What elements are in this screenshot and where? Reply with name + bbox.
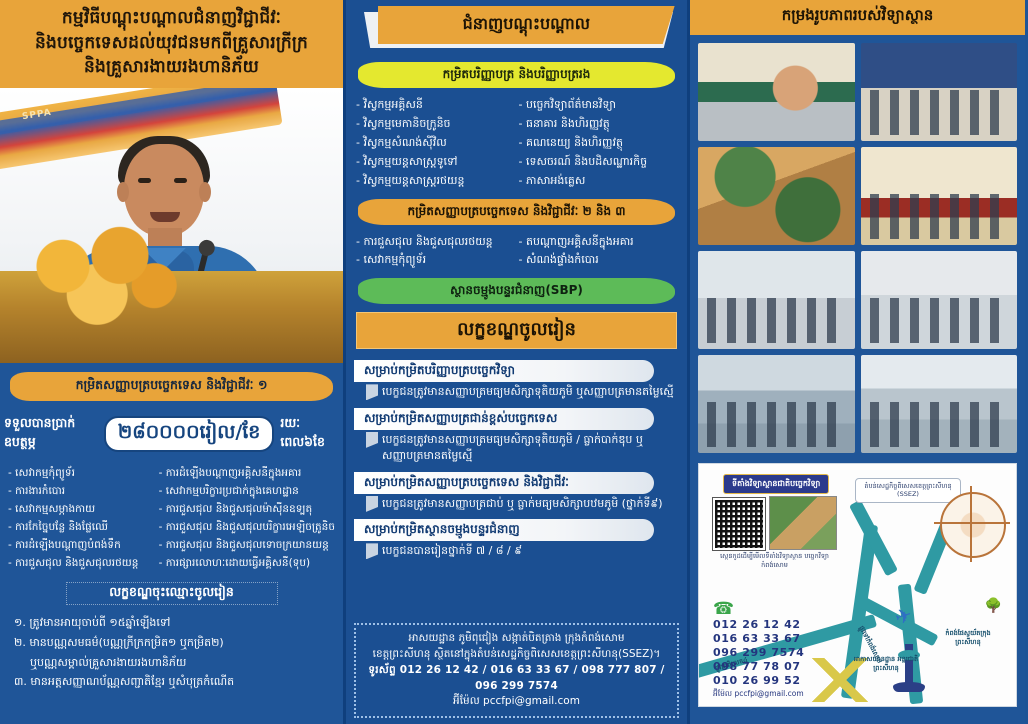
- photo-students-workshop: [698, 251, 855, 349]
- condition-block: សម្រាប់កម្រិតស្ថានចម្មូងបន្ទរជំនាញ បេក្ខ…: [354, 518, 679, 560]
- salary-prefix: ទទួលបានប្រាក់ឧបត្ថម្ភ: [4, 415, 98, 453]
- certificate-programs-list: - ការជួសជុល និងជួសជុលរថយន្ត - តបណ្តាញអគ្…: [346, 231, 687, 275]
- contact-phones[interactable]: ទូរស័ព្ទ 012 26 12 42 / 016 63 33 67 / 0…: [360, 663, 673, 695]
- condition-title: សម្រាប់កម្រិតសញ្ញាបត្រជាន់ខ្ពស់បច្ចេកទេស: [354, 408, 654, 430]
- list-item: - វិស្វកម្មយន្តសាស្ត្ររថយន្ត: [356, 172, 515, 191]
- admission-conditions-title: លក្ខខណ្ឌចូលរៀន: [356, 312, 677, 349]
- header-tab: ជំនាញបណ្តុះបណ្តាល: [378, 6, 675, 44]
- map-badge: ទីតាំងវិទ្យាស្ថានជាតិបច្ចេកវិទ្យា: [723, 474, 829, 494]
- phone-icon: ☎: [713, 601, 863, 618]
- requirements-list: ១. ត្រូវមានអាយុចាប់ពី ១៥ឆ្នាំឡើងទៅ ២. មា…: [0, 611, 343, 694]
- condition-title: សម្រាប់កម្រិតស្ថានចម្មូងបន្ទរជំនាញ: [354, 519, 654, 541]
- people-silhouettes: [870, 194, 1008, 239]
- photo-group-photo-hall: [861, 147, 1018, 245]
- list-item: - ធនាគារ និងហិរញ្ញវត្ថុ: [519, 115, 678, 134]
- poster-root: កម្មវិធីបណ្តុះបណ្តាលជំនាញវិជ្ជាជីវៈ និងប…: [0, 0, 1028, 724]
- list-item: - បច្ចេកវិទ្យាព័ត៌មានវិទ្យា: [519, 96, 678, 115]
- leaf-icon: 🌳: [985, 598, 1002, 614]
- list-item: - វិស្វកម្មយន្តសាស្ត្រទូទៅ: [356, 153, 515, 172]
- list-item: - ការជួសជុល និងជួសជុលម៉ាស៊ីនឧទ្បតុ: [159, 501, 335, 518]
- condition-body: បេក្ខជនត្រូវមានសញ្ញាបត្រជាប់ ឬ ធ្លាក់មធ្…: [370, 496, 679, 513]
- phone-number[interactable]: 096 299 7574: [713, 646, 863, 660]
- list-item: - វិស្វកម្មសំណង់ស៊ីវិល: [356, 134, 515, 153]
- level-1-banner: កម្រិតសញ្ញាបត្របច្ចេកទេស និងវិជ្ជាជីវៈ ១: [10, 372, 333, 401]
- bachelor-level-banner: កម្រិតបរិញ្ញាបត្រ និងបរិញ្ញាបត្ររង: [358, 62, 675, 88]
- people-silhouettes: [707, 402, 845, 447]
- hero-photo: SPPA: [0, 88, 343, 363]
- contact-email[interactable]: អ៊ីម៉ែល pccfpi@gmail.com: [360, 694, 673, 710]
- training-fields-header: ជំនាញបណ្តុះបណ្តាល: [364, 6, 673, 52]
- list-item: ៣. មានអត្តសញ្ញាណប័ណ្ណសញ្ជាតិខ្មែរ ឬសំបុត…: [14, 672, 329, 692]
- condition-title: សម្រាប់កម្រិតសញ្ញាបត្របច្ចេកទេស និងវិជ្ជ…: [354, 472, 654, 494]
- map-thumbnail-photo: [769, 496, 837, 550]
- salary-row: ទទួលបានប្រាក់ឧបត្ថម្ភ ២៨០០០០រៀល/ខែ រយៈពេ…: [4, 415, 339, 453]
- middle-column: ជំនាញបណ្តុះបណ្តាល កម្រិតបរិញ្ញាបត្រ និងប…: [343, 0, 690, 724]
- requirements-title: លក្ខខណ្ឌចុះឈ្មោះចូលរៀន: [66, 582, 278, 605]
- phone-number[interactable]: 016 63 33 67: [713, 632, 863, 646]
- gallery-title: កម្រងរូបភាពរបស់វិទ្យាស្ថាន: [690, 0, 1025, 35]
- portrait-ear-left: [117, 182, 129, 202]
- compass-rose-icon: [940, 492, 1006, 558]
- photo-computer-lab: [698, 355, 855, 453]
- right-column: កម្រងរូបភាពរបស់វិទ្យាស្ថាន ទីតាំងវិទ្យាស…: [690, 0, 1025, 724]
- qr-code[interactable]: [713, 498, 765, 550]
- people-silhouettes: [870, 298, 1008, 343]
- email-label: អ៊ីម៉ែល: [713, 689, 732, 698]
- people-silhouettes: [870, 402, 1008, 447]
- road-segment: [849, 500, 898, 577]
- people-silhouettes: [870, 90, 1008, 135]
- list-item: - តបណ្តាញអគ្គិសនីក្នុងអគារ: [519, 233, 678, 252]
- photo-students-lab: [861, 251, 1018, 349]
- list-item: - ការជួសជុល និងជួសជុលរថយន្ត: [356, 233, 515, 252]
- list-item: - ទេសចរណ៍ និងបដិសណ្ឋារកិច្ច: [519, 153, 678, 172]
- photo-director-at-desk: [698, 43, 855, 141]
- portrait-eye-right: [174, 178, 187, 183]
- ssez-callout-title: តំបន់សេដ្ឋកិច្ចពិសេសខេត្តព្រះសីហនុ: [860, 482, 956, 490]
- condition-title: សម្រាប់កម្រិតបរិញ្ញាបត្របច្ចេកវិទ្យា: [354, 360, 654, 382]
- condition-block: សម្រាប់កម្រិតសញ្ញាបត្របច្ចេកទេស និងវិជ្ជ…: [354, 471, 679, 513]
- list-item: - គណនេយ្យ និងហិរញ្ញវត្ថុ: [519, 134, 678, 153]
- list-item: - ការដំឡើងបណ្តាញអគ្គិសនីក្នុងអគារ: [159, 465, 335, 482]
- ssez-callout: តំបន់សេដ្ឋកិច្ចពិសេសខេត្តព្រះសីហនុ (SSEZ…: [855, 478, 961, 503]
- contact-address-line-2: ខេត្តព្រះសីហនុ ស្ថិតនៅក្នុងតំបន់សេដ្ឋកិច…: [360, 647, 673, 663]
- list-item: - ការដំឡើងបណ្តាញបំពង់ទឹក: [8, 537, 155, 554]
- list-item: - វិស្វកម្មមេកានិចក្រូនិច: [356, 115, 515, 134]
- page-title-line-2: និងបច្ចេកទេសដល់យុវជនមកពីគ្រួសារក្រីក្រ: [8, 31, 335, 56]
- portrait-eye-left: [138, 178, 151, 183]
- email-row[interactable]: អ៊ីម៉ែល pccfpi@gmail.com: [713, 689, 863, 700]
- list-item: - ការកែច្នៃបន្លែ និងផ្លែឈើ: [8, 519, 155, 536]
- contact-block: អាសយដ្ឋាន ភូមិពុជៀង សង្កាត់បិតត្រាង ក្រុ…: [354, 623, 679, 718]
- list-item: ១. ត្រូវមានអាយុចាប់ពី ១៥ឆ្នាំឡើងទៅ: [14, 613, 329, 633]
- list-item: - ការងារកំបោរ: [8, 483, 155, 500]
- phone-contact-block: ☎ 012 26 12 42 016 63 33 67 096 299 7574…: [713, 601, 863, 700]
- condition-body: បេក្ខជនត្រូវមានសញ្ញាបត្រមធ្យមសិក្សាទុតិយ…: [370, 384, 679, 401]
- list-item: - សេវាកម្មកុំព្យូទ័រ: [356, 251, 515, 270]
- list-item: - ការផ្សារលោហៈដោយធ្វើអគ្គិសនី(ទុប): [159, 555, 335, 572]
- phone-number[interactable]: 012 26 12 42: [713, 618, 863, 632]
- list-item: - សេវាកម្មសម្ភាងកាយ: [8, 501, 155, 518]
- page-title: កម្មវិធីបណ្តុះបណ្តាលជំនាញវិជ្ជាជីវៈ និងប…: [0, 0, 343, 88]
- portrait-ear-right: [199, 182, 211, 202]
- salary-suffix: រយៈពេល៦ខែ: [280, 415, 339, 453]
- phone-number[interactable]: 010 26 99 52: [713, 674, 863, 688]
- list-item: ២. មានបណ្ណសមធម៌(បណ្ណក្រីក្រកម្រិត១ ឬកម្រ…: [14, 633, 329, 653]
- ssez-callout-sub: (SSEZ): [860, 490, 956, 498]
- condition-body: បេក្ខជនត្រូវមានសញ្ញាបត្រមធ្យមសិក្សាទុតិយ…: [370, 432, 679, 465]
- salary-amount: ២៨០០០០រៀល/ខែ: [104, 416, 274, 452]
- condition-body: បេក្ខជនបានរៀនថ្នាក់ទី ៧ / ៨ / ៩: [370, 543, 679, 560]
- location-map[interactable]: ទីតាំងវិទ្យាស្ថានជាតិបច្ចេកវិទ្យា ស្កេនក…: [698, 463, 1017, 707]
- left-column: កម្មវិធីបណ្តុះបណ្តាលជំនាញវិជ្ជាជីវៈ និងប…: [0, 0, 343, 724]
- list-item: - ការជួសជុល និងជួសជុលទោចក្រយានយន្ត: [159, 537, 335, 554]
- bachelor-programs-list: - វិស្វកម្មអគ្គិសនី - បច្ចេកវិទ្យាព័ត៌មា…: [346, 94, 687, 195]
- page-title-line-3: និងគ្រួសារងាយរងហានិភ័យ: [8, 55, 335, 80]
- flower-arrangement: [6, 223, 196, 331]
- email-address[interactable]: pccfpi@gmail.com: [734, 689, 803, 698]
- photo-award-ceremony: [861, 43, 1018, 141]
- photo-classroom: [861, 355, 1018, 453]
- photo-campus-aerial-view: [698, 147, 855, 245]
- list-item: - សេវាកម្មកុំព្យូទ័រ: [8, 465, 155, 482]
- list-item: - វិស្វកម្មអគ្គិសនី: [356, 96, 515, 115]
- port-label: កំពង់ផែស្វយ័តក្រុងព្រះសីហនុ: [938, 629, 998, 646]
- people-silhouettes: [707, 298, 845, 343]
- list-item: - សេវាកម្មបរិក្ខារប្រជាក់ក្នុងគេហដ្ឋាន: [159, 483, 335, 500]
- phone-number[interactable]: 098 77 78 07: [713, 660, 863, 674]
- list-item: - ការជួសជុល និងជួសជុលរថយន្ត: [8, 555, 155, 572]
- list-item: - សំណង់ផ្ទាំងកំបោរ: [519, 251, 678, 270]
- condition-block: សម្រាប់កម្រិតសញ្ញាបត្រជាន់ខ្ពស់បច្ចេកទេស…: [354, 407, 679, 465]
- condition-block: សម្រាប់កម្រិតបរិញ្ញាបត្របច្ចេកវិទ្យា បេក…: [354, 359, 679, 401]
- list-item: ឬបណ្ណសម្គាល់គ្រួសារងាយរងហានិភ័យ: [14, 653, 329, 673]
- certificate-level-banner: កម្រិតសញ្ញាបត្របច្ចេកទេស និងវិជ្ជាជីវៈ ២…: [358, 199, 675, 225]
- page-title-line-1: កម្មវិធីបណ្តុះបណ្តាលជំនាញវិជ្ជាជីវៈ: [8, 6, 335, 31]
- trades-list: - សេវាកម្មកុំព្យូទ័រ - ការដំឡើងបណ្តាញអគ្…: [0, 465, 343, 572]
- sbp-banner: ស្ថានចម្មូងបន្ទរជំនាញ(SBP): [358, 278, 675, 304]
- qr-caption: ស្កេនកូដដើម្បីមើលទីតាំងវិទ្យាស្ថាន បច្ចេ…: [707, 552, 842, 570]
- list-item: - ការជួសជុល និងជួសជុលបរិក្ខារអេឡិចត្រូនិ…: [159, 519, 335, 536]
- photo-gallery: [690, 35, 1025, 459]
- list-item: - ភាសាអង់គ្លេស: [519, 172, 678, 191]
- contact-address-line-1: អាសយដ្ឋាន ភូមិពុជៀង សង្កាត់បិតត្រាង ក្រុ…: [360, 631, 673, 647]
